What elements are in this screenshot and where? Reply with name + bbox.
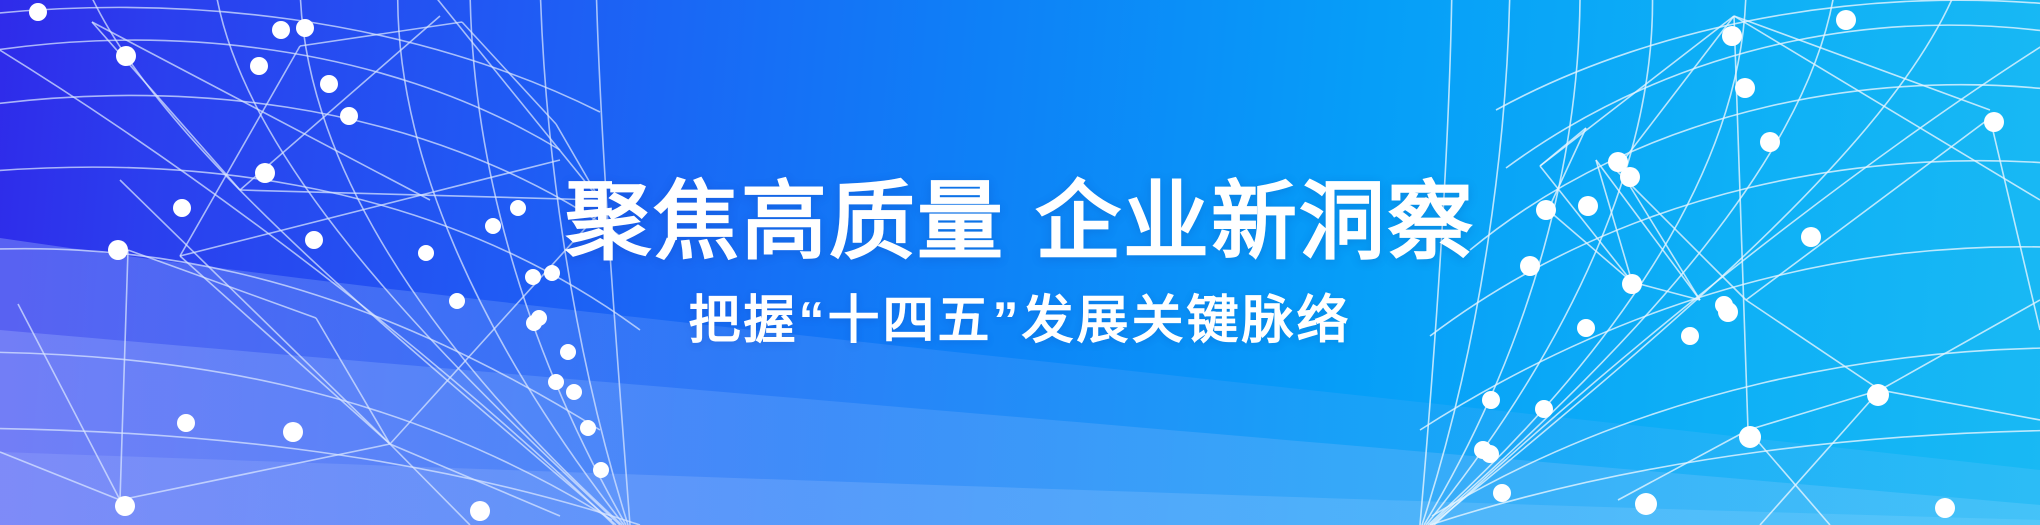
promo-banner: 聚焦高质量企业新洞察 把握“十四五”发展关键脉络 <box>0 0 2040 525</box>
right-network-globe <box>0 0 2040 525</box>
